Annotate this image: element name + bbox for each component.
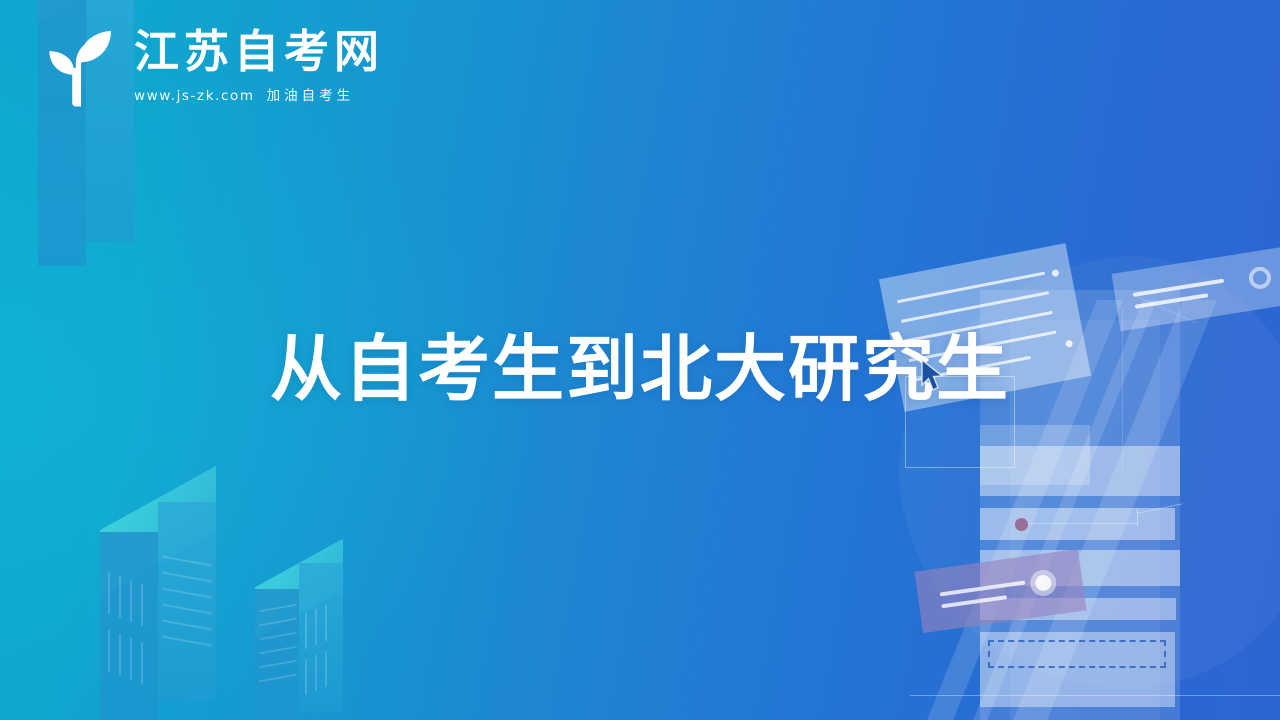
connector-line xyxy=(1028,523,1138,524)
tower-detail-lines xyxy=(255,555,470,720)
connector-line xyxy=(1137,508,1138,526)
decorative-illustration xyxy=(860,250,1280,720)
illustration-bar xyxy=(980,508,1175,540)
logo-subtitle: www.js-zk.com 加油自考生 xyxy=(134,84,384,104)
dashed-placeholder-box xyxy=(988,640,1166,668)
purple-node-dot xyxy=(1015,518,1028,531)
sprout-icon xyxy=(30,22,118,110)
site-logo[interactable]: 江苏自考网 www.js-zk.com 加油自考生 xyxy=(30,22,384,110)
baseline-rule xyxy=(910,695,1280,696)
logo-slogan: 加油自考生 xyxy=(267,88,355,104)
banner-headline: 从自考生到北大研究生 xyxy=(0,333,1280,405)
banner-canvas: 江苏自考网 www.js-zk.com 加油自考生 从自考生到北大研究生 xyxy=(0,0,1280,720)
logo-url: www.js-zk.com xyxy=(134,88,255,104)
isometric-tower-small xyxy=(255,555,470,720)
logo-title: 江苏自考网 xyxy=(134,28,384,75)
info-card-right xyxy=(1112,247,1280,332)
illustration-bar xyxy=(980,446,1180,496)
